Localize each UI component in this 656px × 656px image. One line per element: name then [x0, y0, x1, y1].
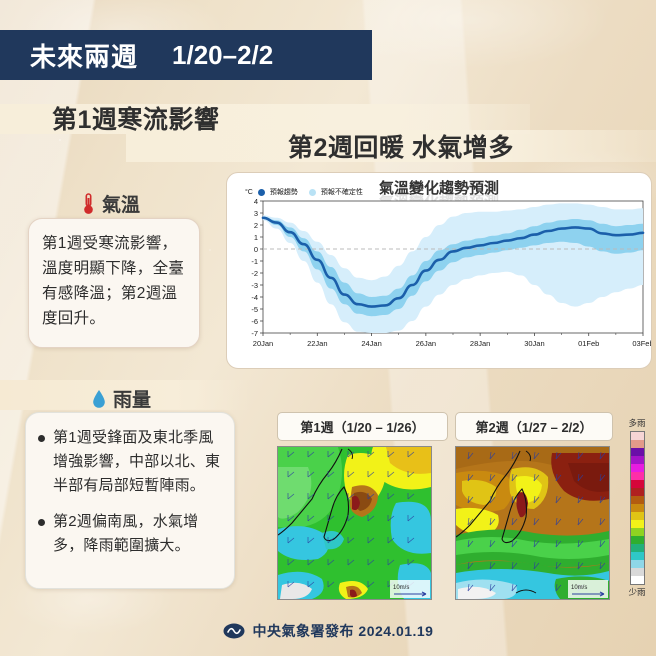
map-panel-week2: 第2週（1/27 – 2/2） — [455, 412, 613, 600]
footer-text: 中央氣象署發布 2024.01.19 — [253, 621, 434, 641]
temperature-section-label: 氣溫 — [102, 190, 140, 217]
temperature-card: 第1週受寒流影響，溫度明顯下降，全臺有感降溫；第2週溫度回升。 — [28, 218, 200, 348]
colorbar-segment — [631, 536, 644, 544]
svg-text:28Jan: 28Jan — [470, 339, 490, 348]
colorbar-strip — [630, 431, 645, 585]
colorbar-segment — [631, 576, 644, 584]
svg-text:-5: -5 — [251, 305, 258, 314]
temperature-section-header: 氣溫 — [82, 190, 140, 217]
svg-text:-6: -6 — [251, 317, 258, 326]
svg-text:1: 1 — [254, 233, 258, 242]
rainfall-bullet-list: 第1週受鋒面及東北季風增強影響，中部以北、東半部有局部短暫陣雨。 第2週偏南風，… — [26, 413, 234, 558]
colorbar-segment — [631, 440, 644, 448]
svg-text:01Feb: 01Feb — [578, 339, 599, 348]
colorbar-segment — [631, 504, 644, 512]
svg-text:20Jan: 20Jan — [253, 339, 273, 348]
subtitle-week1: 第1週寒流影響 — [52, 100, 219, 136]
colorbar-segment — [631, 472, 644, 480]
banner-dates: 1/20–2/2 — [172, 40, 273, 71]
svg-text:-7: -7 — [251, 329, 258, 338]
colorbar-segment — [631, 552, 644, 560]
svg-text:24Jan: 24Jan — [361, 339, 381, 348]
legend-swatch-trend — [258, 189, 265, 196]
colorbar-segment — [631, 464, 644, 472]
svg-text:3: 3 — [254, 209, 258, 218]
rainfall-section-header: 雨量 — [92, 385, 151, 412]
list-item: 第2週偏南風，水氣增多，降雨範圍擴大。 — [38, 510, 222, 558]
svg-text:0: 0 — [254, 245, 258, 254]
legend-label-uncertainty: 預報不確定性 — [321, 187, 363, 197]
colorbar-segment — [631, 544, 644, 552]
svg-text:26Jan: 26Jan — [416, 339, 436, 348]
temperature-trend-chart-panel: 氣溫變化趨勢預測 氣溫變化趨勢預測 °C 預報趨勢 預報不確定性 43210-1… — [226, 172, 652, 369]
precipitation-colorbar: 多雨 少雨 — [620, 418, 654, 598]
svg-text:-4: -4 — [251, 293, 258, 302]
chart-plot: 43210-1-2-3-4-5-6-720Jan22Jan24Jan26Jan2… — [227, 173, 651, 368]
svg-text:10m/s: 10m/s — [571, 585, 587, 591]
legend-label-trend: 預報趨勢 — [270, 187, 298, 197]
rainfall-card: 第1週受鋒面及東北季風增強影響，中部以北、東半部有局部短暫陣雨。 第2週偏南風，… — [25, 412, 235, 589]
colorbar-segment — [631, 512, 644, 520]
list-item: 第1週受鋒面及東北季風增強影響，中部以北、東半部有局部短暫陣雨。 — [38, 426, 222, 498]
map-panel-week2-title: 第2週（1/27 – 2/2） — [455, 412, 613, 441]
water-drop-icon — [92, 389, 106, 409]
banner-title: 未來兩週 — [30, 37, 138, 74]
svg-text:30Jan: 30Jan — [524, 339, 544, 348]
subtitle-week2: 第2週回暖 水氣增多 — [288, 128, 514, 164]
svg-text:2: 2 — [254, 221, 258, 230]
thermometer-icon — [82, 193, 95, 215]
header-banner: 未來兩週 1/20–2/2 — [0, 30, 372, 80]
colorbar-bottom-label: 少雨 — [620, 587, 654, 598]
colorbar-segment — [631, 568, 644, 576]
svg-text:22Jan: 22Jan — [307, 339, 327, 348]
precipitation-map-week1: 10m/s — [277, 446, 432, 600]
wind-scale-legend-week2: 10m/s — [568, 580, 608, 598]
chart-yaxis-unit: °C — [245, 189, 253, 196]
svg-text:-1: -1 — [251, 257, 258, 266]
wind-scale-legend-week1: 10m/s — [390, 580, 430, 598]
precipitation-map-week2: 10m/s — [455, 446, 610, 600]
cwa-logo-icon — [223, 620, 245, 642]
legend-swatch-uncertainty — [309, 189, 316, 196]
colorbar-segment — [631, 448, 644, 456]
colorbar-segment — [631, 480, 644, 488]
temperature-body-text: 第1週受寒流影響，溫度明顯下降，全臺有感降溫；第2週溫度回升。 — [29, 219, 199, 343]
colorbar-segment — [631, 432, 644, 440]
map-panel-week1-title: 第1週（1/20 – 1/26） — [277, 412, 448, 441]
svg-text:-2: -2 — [251, 269, 258, 278]
colorbar-segment — [631, 560, 644, 568]
colorbar-segment — [631, 496, 644, 504]
colorbar-segment — [631, 520, 644, 528]
chart-legend: °C 預報趨勢 預報不確定性 — [245, 187, 363, 197]
colorbar-segment — [631, 488, 644, 496]
rainfall-section-label: 雨量 — [113, 385, 151, 412]
svg-text:4: 4 — [254, 197, 258, 206]
map-panel-week1: 第1週（1/20 – 1/26） — [277, 412, 448, 600]
footer: 中央氣象署發布 2024.01.19 — [0, 620, 656, 642]
svg-text:03Feb: 03Feb — [632, 339, 651, 348]
colorbar-top-label: 多雨 — [620, 418, 654, 429]
svg-text:-3: -3 — [251, 281, 258, 290]
colorbar-segment — [631, 456, 644, 464]
colorbar-segment — [631, 528, 644, 536]
svg-text:10m/s: 10m/s — [393, 585, 409, 591]
